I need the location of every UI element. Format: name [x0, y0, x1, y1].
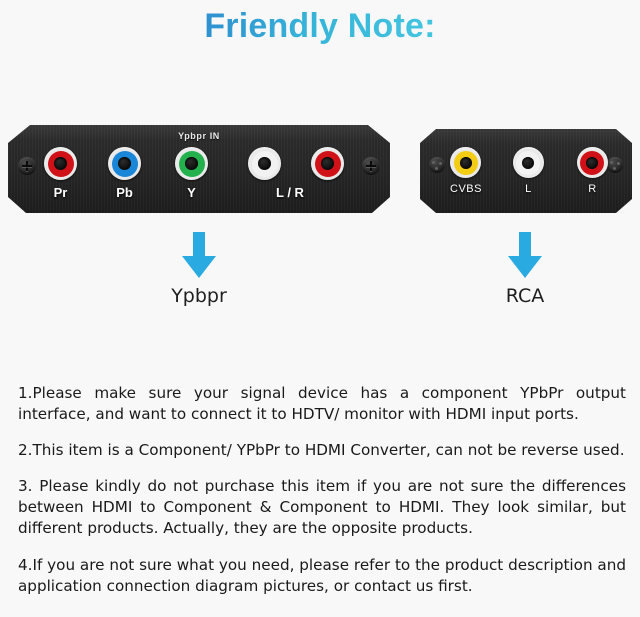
rca-jack-icon — [450, 147, 481, 178]
jack-r: R — [577, 147, 608, 195]
ypbpr-caption: Ypbpr — [129, 285, 269, 307]
jack-label-pr: Pr — [54, 185, 68, 200]
page-title: Friendly Note: — [204, 7, 435, 46]
jack-color-ring — [252, 151, 278, 177]
jack-hole — [586, 157, 598, 169]
jack-pr: Pr — [44, 147, 77, 200]
jack-hole — [258, 157, 271, 170]
jack-hole — [185, 157, 198, 170]
note-item-2: 2.This item is a Component/ YPbPr to HDM… — [18, 440, 626, 461]
jack-color-ring — [112, 151, 138, 177]
jack-label-r: R — [588, 183, 596, 195]
note-item-1: 1.Please make sure your signal device ha… — [18, 383, 626, 425]
rca-device-panel: CVBS L R — [420, 129, 632, 213]
jack-color-ring — [48, 151, 74, 177]
rca-jack-icon — [175, 147, 208, 180]
jack-cvbs: CVBS — [450, 147, 482, 195]
jack-hole — [321, 157, 334, 170]
note-item-3: 3. Please kindly do not purchase this it… — [18, 476, 626, 539]
arrow-down-icon — [508, 232, 542, 278]
jack-label-pb: Pb — [116, 185, 133, 200]
jack-color-ring — [179, 151, 205, 177]
device-diagram: Ypbpr IN Pr Pb — [0, 115, 640, 225]
rca-caption: RCA — [455, 285, 595, 307]
jack-pb: Pb — [108, 147, 141, 200]
jack-label-lr-pair: L / R — [276, 185, 304, 200]
arrow-down-icon — [182, 232, 216, 278]
jack-r: R — [311, 147, 344, 200]
jack-label-cvbs: CVBS — [450, 183, 482, 195]
jack-color-ring — [454, 151, 478, 175]
ypbpr-device-panel: Ypbpr IN Pr Pb — [8, 125, 390, 213]
rca-jack-icon — [311, 147, 344, 180]
rca-jack-icon — [513, 147, 544, 178]
jack-y: Y — [175, 147, 208, 200]
rca-jack-icon — [248, 147, 281, 180]
rca-jack-icon — [44, 147, 77, 180]
jack-hole — [460, 157, 472, 169]
jack-hole — [118, 157, 131, 170]
ypbpr-panel-silkscreen-label: Ypbpr IN — [8, 131, 390, 141]
notes-list: 1.Please make sure your signal device ha… — [18, 368, 626, 597]
note-item-4: 4.If you are not sure what you need, ple… — [18, 555, 626, 597]
jack-color-ring — [580, 151, 604, 175]
rca-jack-icon — [108, 147, 141, 180]
rca-jack-row: CVBS L R — [420, 147, 640, 195]
jack-color-ring — [516, 151, 540, 175]
jack-color-ring — [315, 151, 341, 177]
jack-hole — [54, 157, 67, 170]
jack-label-y: Y — [187, 185, 196, 200]
jack-hole — [522, 157, 534, 169]
page-header: Friendly Note: — [0, 0, 640, 52]
jack-label-l: L — [525, 183, 532, 195]
jack-l: L — [513, 147, 544, 195]
rca-jack-icon — [577, 147, 608, 178]
ypbpr-jack-row: Pr Pb Y — [8, 147, 426, 200]
